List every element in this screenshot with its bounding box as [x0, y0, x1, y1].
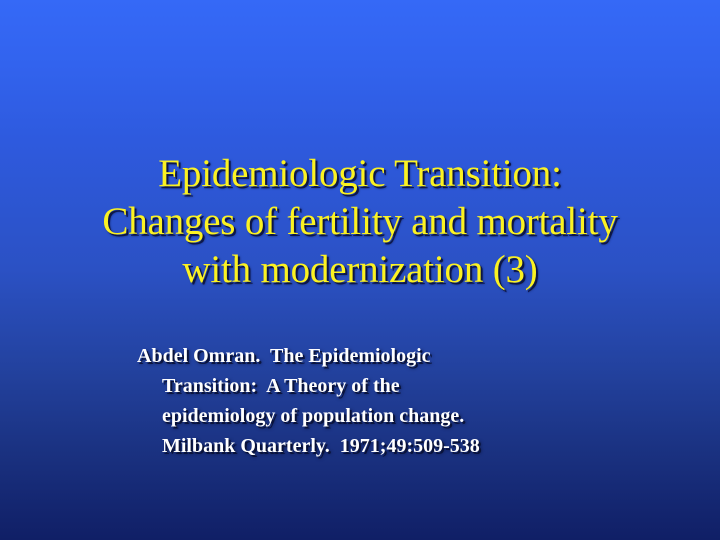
slide-citation-body: Abdel Omran. The Epidemiologic Transitio…: [137, 341, 637, 461]
citation-line-4: Milbank Quarterly. 1971;49:509-538: [137, 431, 637, 461]
presentation-slide: Epidemiologic Transition: Changes of fer…: [0, 0, 720, 540]
citation-line-3: epidemiology of population change.: [137, 401, 637, 431]
slide-title: Epidemiologic Transition: Changes of fer…: [0, 150, 720, 294]
title-line-3: with modernization (3): [0, 246, 720, 294]
title-line-1: Epidemiologic Transition:: [0, 150, 720, 198]
title-line-2: Changes of fertility and mortality: [0, 198, 720, 246]
citation-line-1: Abdel Omran. The Epidemiologic: [137, 341, 637, 371]
citation-line-2: Transition: A Theory of the: [137, 371, 637, 401]
